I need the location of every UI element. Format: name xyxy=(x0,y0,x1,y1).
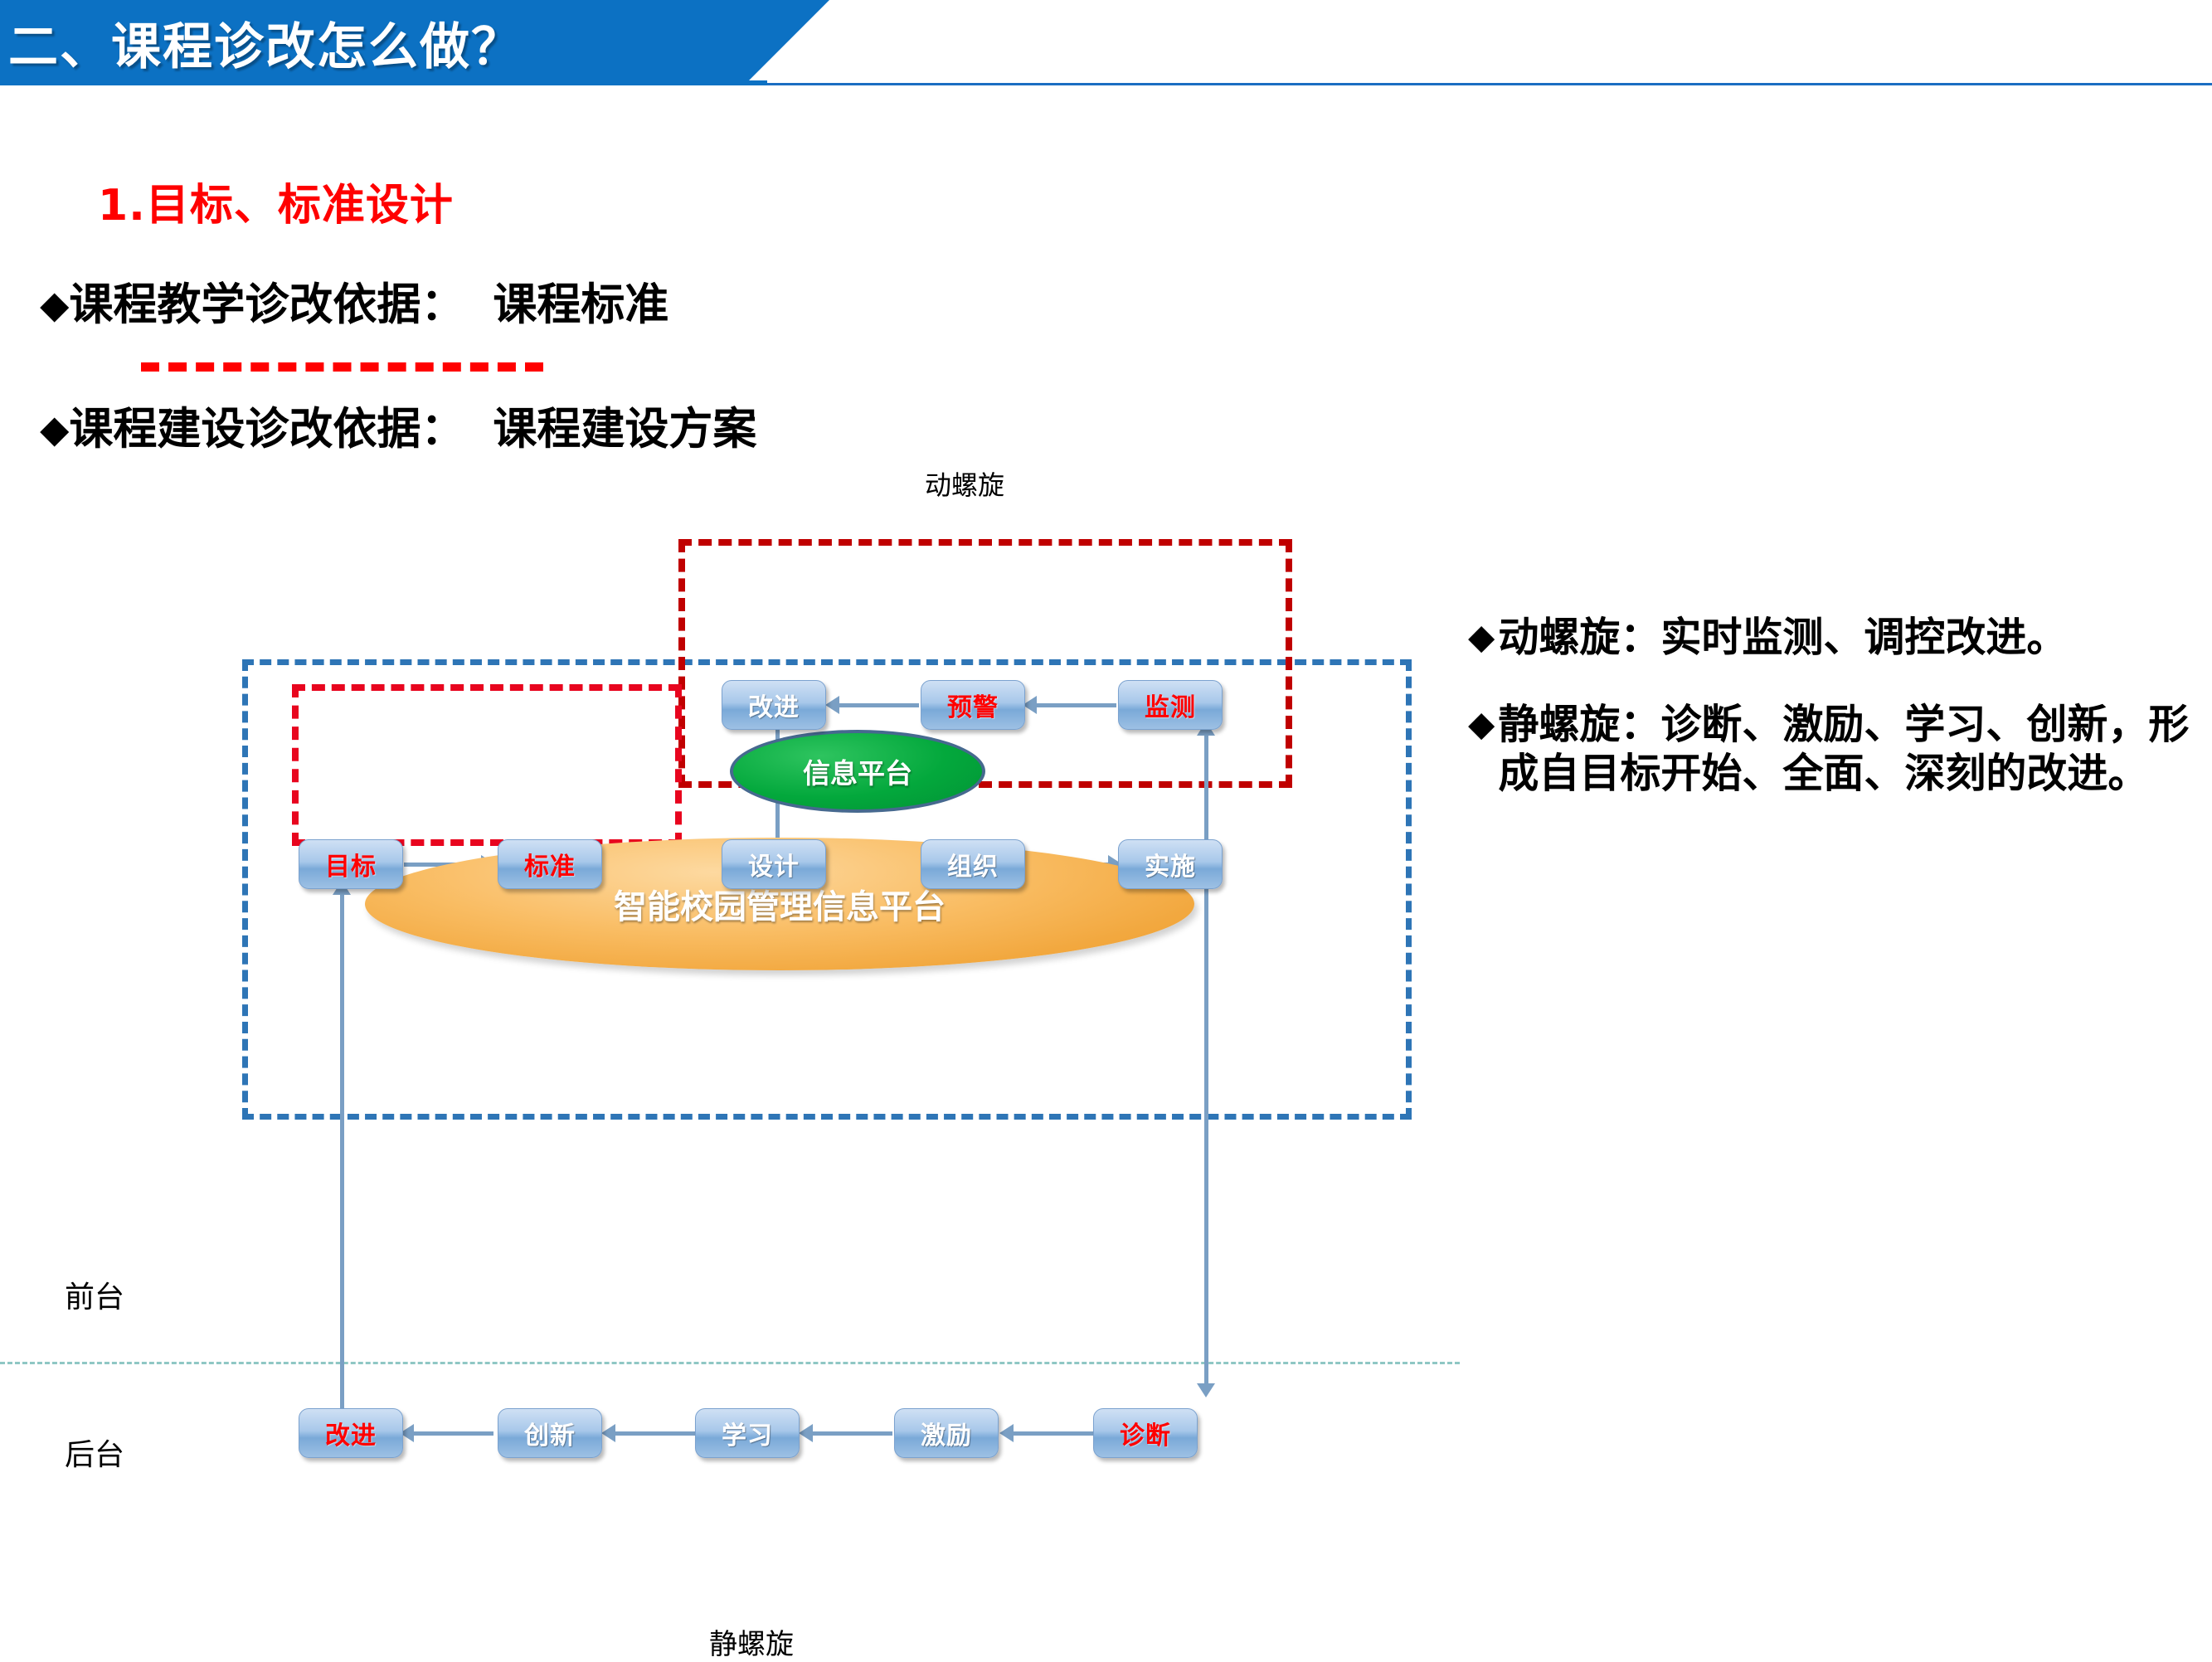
panel-item-static-text: 静螺旋：诊断、激励、学习、创新，形成自目标开始、全面、深刻的改进。 xyxy=(1498,701,2198,799)
connector-jiance-to-yujing xyxy=(1027,703,1116,707)
label-front-stage: 前台 xyxy=(65,1273,124,1316)
connector-shishi-to-zhenduan-lower xyxy=(1204,929,1208,1393)
connector-chuangxin-to-gaijin xyxy=(404,1431,493,1436)
header-banner-tail xyxy=(713,0,829,83)
bullet-2-value: 课程建设方案 xyxy=(493,404,756,454)
label-dynamic-spiral: 动螺旋 xyxy=(925,464,1004,503)
connector-gaijin-to-mubiao xyxy=(340,886,344,1417)
front-back-stage-divider xyxy=(0,1362,1460,1364)
arrow-left-icon xyxy=(799,1424,813,1442)
panel-item-static: ◆ 静螺旋：诊断、激励、学习、创新，形成自目标开始、全面、深刻的改进。 xyxy=(1468,701,2198,799)
diamond-bullet-icon: ◆ xyxy=(40,406,69,451)
node-bot-jili[interactable]: 激励 xyxy=(894,1408,999,1458)
connector-xuexi-to-chuangxin xyxy=(605,1431,695,1436)
information-platform-ellipse: 信息平台 xyxy=(730,730,985,813)
arrow-left-icon xyxy=(999,1424,1014,1442)
node-top-yujing[interactable]: 预警 xyxy=(921,680,1025,730)
bullet-line-1: ◆课程教学诊改依据：课程标准 xyxy=(40,270,668,333)
arrow-left-icon xyxy=(825,696,839,714)
node-bot-gaijin[interactable]: 改进 xyxy=(299,1408,403,1458)
red-dashed-underline xyxy=(141,362,543,372)
spiral-diagram: 动螺旋 静螺旋 前台 后台 xyxy=(0,464,1460,1244)
node-mid-sheji[interactable]: 设计 xyxy=(722,839,826,889)
node-mid-biaozhun[interactable]: 标准 xyxy=(498,839,602,889)
panel-item-dynamic-text: 动螺旋：实时监测、调控改进。 xyxy=(1498,614,2198,663)
explanation-panel: ◆ 动螺旋：实时监测、调控改进。 ◆ 静螺旋：诊断、激励、学习、创新，形成自目标… xyxy=(1468,614,2198,836)
node-bot-xuexi[interactable]: 学习 xyxy=(695,1408,800,1458)
node-bot-chuangxin[interactable]: 创新 xyxy=(498,1408,602,1458)
bullet-1-value: 课程标准 xyxy=(493,279,668,330)
bullet-1-label: 课程教学诊改依据： xyxy=(69,279,464,330)
slide-root: 二、课程诊改怎么做？ 1.目标、标准设计 ◆课程教学诊改依据：课程标准 ◆课程建… xyxy=(0,0,2212,1245)
label-back-stage: 后台 xyxy=(65,1431,124,1474)
page-title: 二、课程诊改怎么做？ xyxy=(8,7,523,79)
connector-jili-to-xuexi xyxy=(803,1431,892,1436)
label-static-spiral: 静螺旋 xyxy=(709,1621,794,1662)
diamond-bullet-icon: ◆ xyxy=(1468,614,1495,661)
node-mid-zuzhi[interactable]: 组织 xyxy=(921,839,1025,889)
arrow-left-icon xyxy=(601,1424,615,1442)
arrow-down-icon xyxy=(1197,1383,1215,1397)
node-top-jiance[interactable]: 监测 xyxy=(1118,680,1223,730)
node-mid-mubiao[interactable]: 目标 xyxy=(299,839,403,889)
header-divider-rule-thick xyxy=(0,80,767,85)
section-title: 1.目标、标准设计 xyxy=(98,170,454,232)
node-mid-shishi[interactable]: 实施 xyxy=(1118,839,1223,889)
bullet-2-label: 课程建设诊改依据： xyxy=(69,404,464,454)
diamond-bullet-icon: ◆ xyxy=(1468,701,1495,748)
connector-shishi-to-jiance xyxy=(1204,727,1208,843)
node-bot-zhenduan[interactable]: 诊断 xyxy=(1093,1408,1198,1458)
connector-zhenduan-to-jili xyxy=(1004,1431,1093,1436)
goal-standard-dashed-frame xyxy=(292,684,682,846)
bullet-line-2: ◆课程建设诊改依据：课程建设方案 xyxy=(40,394,756,457)
connector-yujing-to-gaijin xyxy=(829,703,919,707)
panel-item-dynamic: ◆ 动螺旋：实时监测、调控改进。 xyxy=(1468,614,2198,663)
node-top-gaijin[interactable]: 改进 xyxy=(722,680,826,730)
diamond-bullet-icon: ◆ xyxy=(40,282,69,327)
